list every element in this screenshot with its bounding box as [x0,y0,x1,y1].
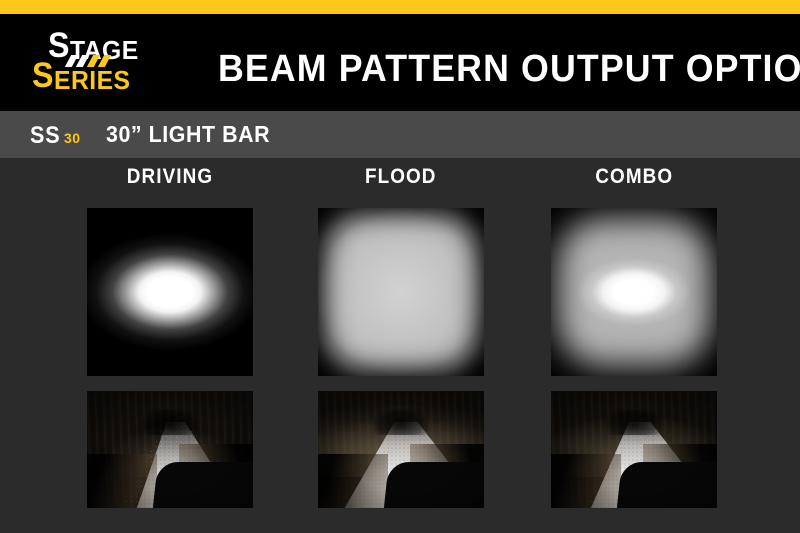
column-label-driving: DRIVING [87,166,253,187]
top-accent-bar [0,0,800,14]
beam-comparison-grid: DRIVING FLOOD [0,158,800,533]
logo-word-series: SERIES [32,58,135,94]
photo-vignette [551,391,717,508]
photo-vignette [318,391,484,508]
sku-size-subscript: 30 [64,131,81,145]
road-photo-combo [551,391,717,508]
beam-hotspot [551,208,717,376]
header-bar: STAGE SERIES BEAM PATTERN OUTPUT OPTIONS [0,14,800,111]
logo-series-initial: S [32,58,53,93]
column-label-flood: FLOOD [318,166,484,187]
page-title: BEAM PATTERN OUTPUT OPTIONS [218,50,800,88]
stage-series-logo: STAGE SERIES [30,28,190,100]
product-name-label: 30” LIGHT BAR [106,123,270,146]
beam-pattern-combo [551,208,717,376]
beam-pattern-flood [318,208,484,376]
beam-pattern-driving [87,208,253,376]
beam-hotspot [87,208,253,376]
road-photo-driving [87,391,253,508]
product-subtitle-bar: SS30 30” LIGHT BAR [0,111,800,158]
logo-series-rest: ERIES [54,67,131,93]
beam-wash-falloff [318,208,484,376]
column-label-combo: COMBO [551,166,717,187]
sku-main-label: SS [30,124,61,148]
road-photo-flood [318,391,484,508]
sku-badge: SS30 [30,124,81,148]
photo-vignette [87,391,253,508]
